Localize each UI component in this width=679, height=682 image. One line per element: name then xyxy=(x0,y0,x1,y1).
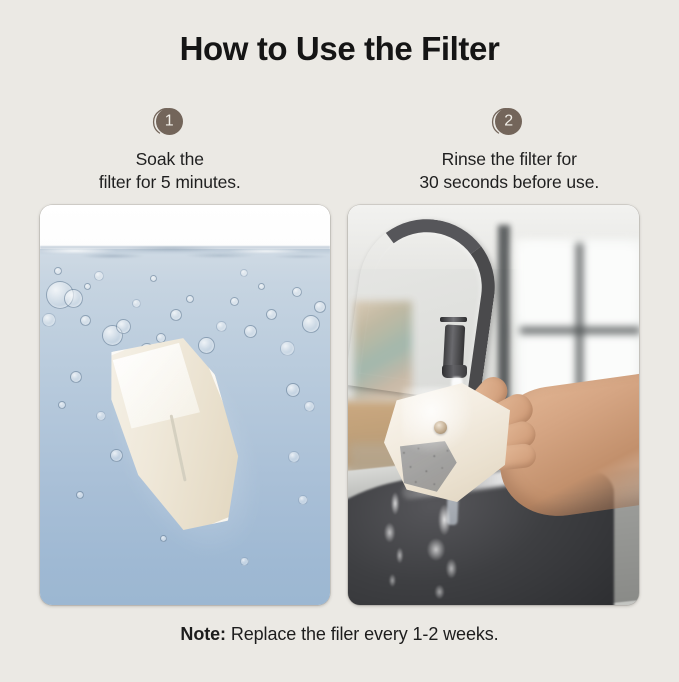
step-1-badge-disc: 1 xyxy=(156,108,183,135)
step-2-number: 2 xyxy=(504,113,513,129)
step-2-image xyxy=(348,205,639,605)
bag-grommet xyxy=(434,421,447,434)
step-images xyxy=(40,205,639,605)
step-2-badge: 2 xyxy=(489,104,529,142)
step-1: 1 Soak the filter for 5 minutes. xyxy=(0,104,340,194)
instruction-card: How to Use the Filter 1 Soak the filter … xyxy=(0,0,679,682)
step-2-text: Rinse the filter for 30 seconds before u… xyxy=(419,148,599,194)
steps-header-row: 1 Soak the filter for 5 minutes. 2 Rinse… xyxy=(0,104,679,194)
water-dripping xyxy=(374,491,420,595)
note: Note: Replace the filer every 1-2 weeks. xyxy=(0,622,679,646)
page-title: How to Use the Filter xyxy=(0,28,679,70)
note-label: Note: xyxy=(180,624,226,644)
step-1-text: Soak the filter for 5 minutes. xyxy=(99,148,241,194)
step-1-badge: 1 xyxy=(150,104,190,142)
step-1-number: 1 xyxy=(165,113,174,129)
note-text: Replace the filer every 1-2 weeks. xyxy=(231,624,499,644)
kitchen-scene xyxy=(348,205,639,605)
step-2: 2 Rinse the filter for 30 seconds before… xyxy=(340,104,679,194)
step-1-image xyxy=(40,205,330,605)
